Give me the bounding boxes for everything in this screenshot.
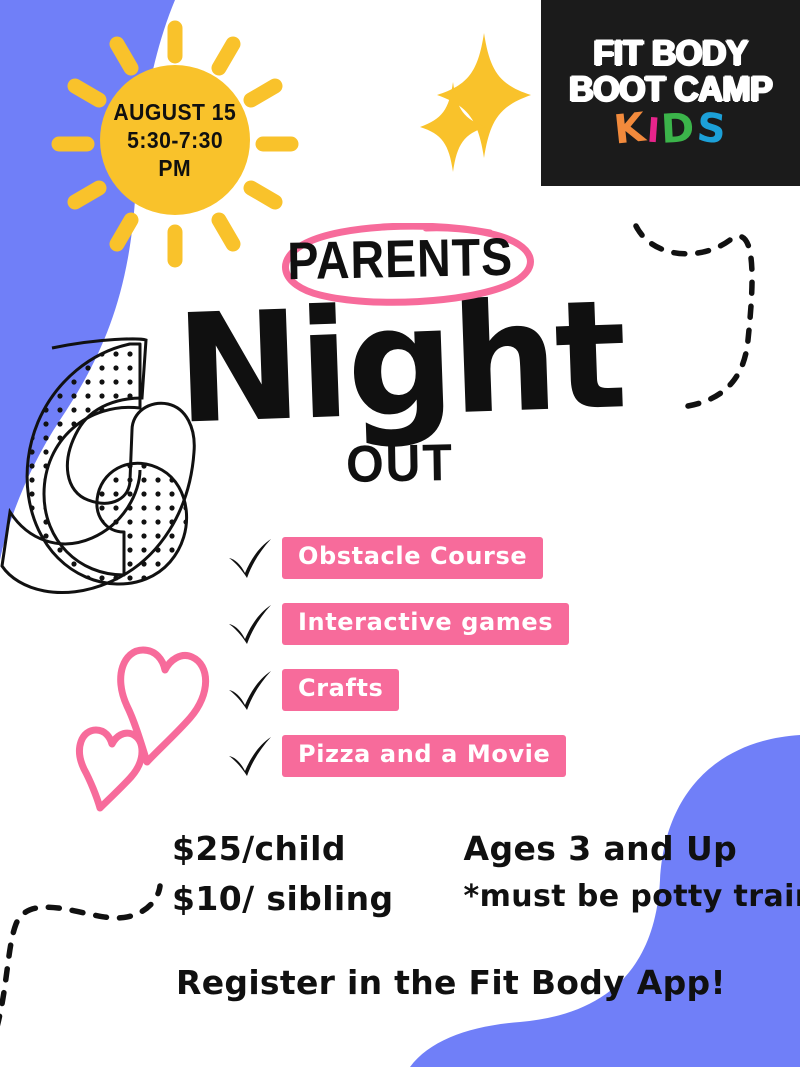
- logo-line-2: BOOT CAMP: [569, 73, 772, 107]
- checklist-item: Crafts: [226, 668, 626, 712]
- event-time-period: PM: [159, 154, 192, 182]
- logo-badge: FIT BODY BOOT CAMP KIDS: [541, 0, 800, 186]
- activities-checklist: Obstacle Course Interactive games Crafts: [226, 536, 626, 800]
- pricing-column: $25/child $10/ sibling: [172, 824, 394, 924]
- check-icon: [226, 537, 282, 579]
- heart-icon: [80, 650, 206, 808]
- ages-requirement: Ages 3 and Up: [464, 824, 800, 874]
- headline-block: PARENTS Night OUT: [0, 232, 800, 494]
- requirements-column: Ages 3 and Up *must be potty trained*: [464, 824, 800, 924]
- sun-disc: AUGUST 15 5:30-7:30 PM: [100, 65, 250, 215]
- logo-letter-k: K: [612, 107, 649, 150]
- info-grid: $25/child $10/ sibling Ages 3 and Up *mu…: [172, 824, 792, 924]
- logo-line-1: FIT BODY: [593, 37, 748, 71]
- check-icon: [226, 603, 282, 645]
- logo-letter-d: D: [660, 108, 697, 150]
- call-to-action: Register in the Fit Body App!: [176, 963, 726, 1002]
- logo-kids-word: KIDS: [614, 109, 728, 149]
- logo-letter-s: S: [695, 108, 729, 151]
- checklist-label: Obstacle Course: [282, 537, 543, 578]
- event-time: 5:30-7:30: [127, 126, 223, 154]
- headline-out: OUT: [346, 433, 455, 495]
- event-date: AUGUST 15: [114, 98, 237, 126]
- checklist-item: Interactive games: [226, 602, 626, 646]
- checklist-label: Interactive games: [282, 603, 569, 644]
- headline-parents: PARENTS: [287, 230, 513, 290]
- checklist-item: Obstacle Course: [226, 536, 626, 580]
- checklist-item: Pizza and a Movie: [226, 734, 626, 778]
- flyer-canvas: FIT BODY BOOT CAMP KIDS AUGUST 15 5:30-7…: [0, 0, 800, 1067]
- sparkle-icon: [420, 33, 531, 172]
- check-icon: [226, 735, 282, 777]
- potty-trained-note: *must be potty trained*: [464, 874, 800, 920]
- checklist-label: Pizza and a Movie: [282, 735, 566, 776]
- headline-night: Night: [174, 286, 626, 440]
- dashed-curve-bottom-left: [0, 886, 160, 1050]
- check-icon: [226, 669, 282, 711]
- parents-word-row: PARENTS: [0, 232, 800, 300]
- price-sibling: $10/ sibling: [172, 874, 394, 924]
- price-child: $25/child: [172, 824, 394, 874]
- checklist-label: Crafts: [282, 669, 399, 710]
- sun-icon: AUGUST 15 5:30-7:30 PM: [57, 22, 293, 258]
